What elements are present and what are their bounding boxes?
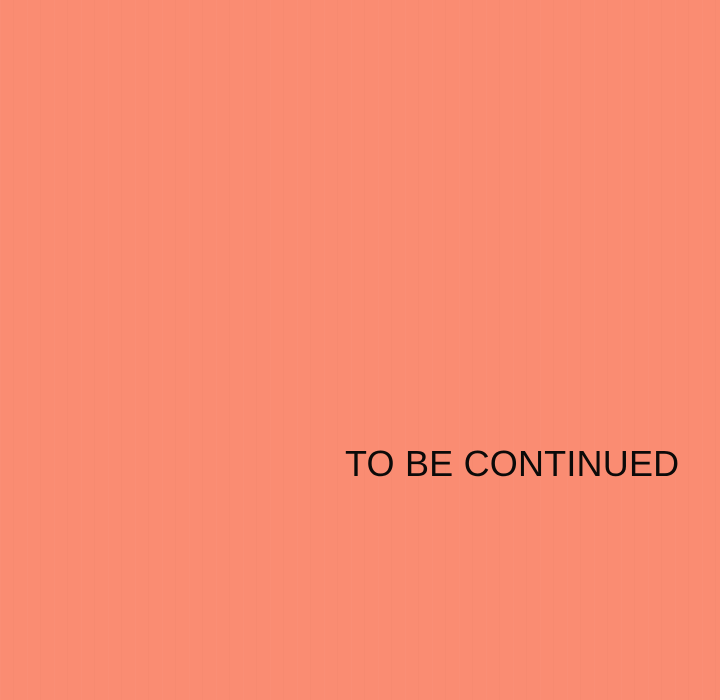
to-be-continued-card: TO BE CONTINUED xyxy=(0,0,720,700)
background-texture xyxy=(0,0,720,700)
to-be-continued-caption: TO BE CONTINUED xyxy=(345,443,679,485)
